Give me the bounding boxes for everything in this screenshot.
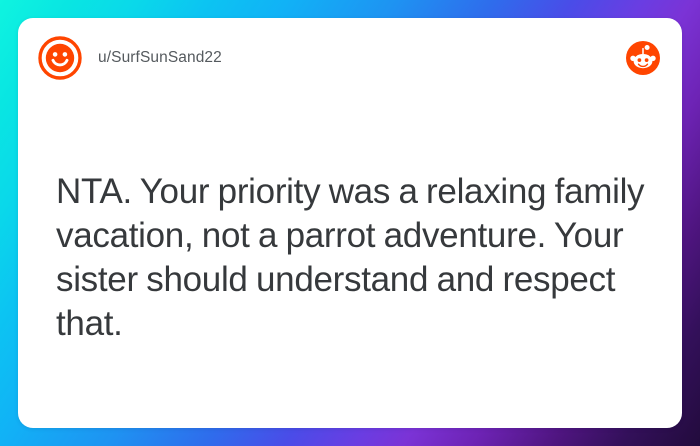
reddit-comment-card: u/SurfSunSand22	[18, 18, 682, 428]
username-label: u/SurfSunSand22	[98, 49, 222, 67]
comment-header: u/SurfSunSand22	[18, 18, 682, 98]
avatar[interactable]	[38, 36, 82, 80]
smiley-face-avatar-icon	[38, 36, 82, 80]
screenshot-canvas: u/SurfSunSand22	[0, 0, 700, 446]
reddit-snoo-logo-icon	[626, 41, 660, 75]
comment-body: NTA. Your priority was a relaxing family…	[56, 170, 652, 346]
comment-text: NTA. Your priority was a relaxing family…	[56, 170, 652, 346]
reddit-logo	[626, 41, 660, 75]
